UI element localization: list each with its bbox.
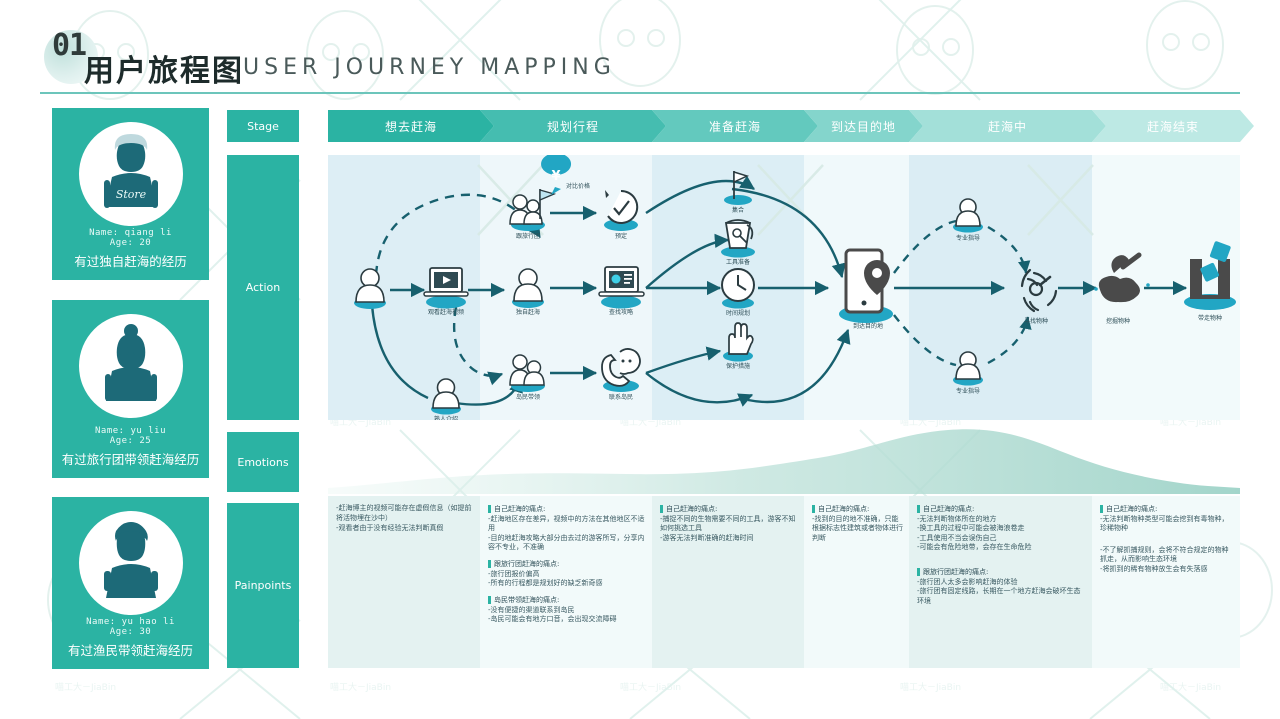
persona-desc: 有过渔民带领赶海经历 (52, 640, 209, 659)
painpoint-group: 自己赶海的痛点: -赶海地区存在差异，视频中的方法在其他地区不适用 -目的地赶海… (488, 504, 646, 553)
painpoint-group: 自己赶海的痛点: -找到的目的地不准确，只能根据标志性建筑或者物体进行判断 (812, 504, 903, 543)
person-icon (953, 352, 983, 386)
stage-chevron[interactable]: 到达目的地 (804, 110, 923, 142)
painpoint-line: -所有的行程都是规划好的缺乏新奇感 (488, 579, 646, 588)
painpoint-line: -游客无法判断准确的赶海时间 (660, 534, 798, 543)
action-node-label: 跟旅行团 (516, 231, 540, 240)
painpoint-heading-text: 自己赶海的痛点: (923, 504, 974, 514)
accent-bar-icon (1100, 505, 1103, 513)
group-flag-icon (510, 189, 554, 231)
persona-name: Name: yu hao li (52, 617, 209, 627)
action-node-label: 观看赶海视频 (428, 307, 464, 316)
action-flow-diagram: ¥ (328, 155, 1240, 420)
stage-label: 准备赶海 (709, 118, 761, 135)
accent-bar-icon (660, 505, 663, 513)
svg-text:喵工大－JiaBin: 喵工大－JiaBin (900, 681, 961, 693)
radar-search-icon (1022, 270, 1056, 311)
person-icon (354, 269, 386, 309)
row-label-painpoints[interactable]: Painpoints (227, 503, 299, 668)
persona-card[interactable]: Store Name: qiang li Age: 20 有过独自赶海的经历 (52, 108, 209, 280)
painpoint-heading: 自己赶海的痛点: (660, 504, 798, 514)
action-node-label: 专业指导 (956, 233, 980, 242)
page-title-en: USER JOURNEY MAPPING (243, 55, 616, 80)
person-icon (431, 379, 461, 415)
painpoint-group: 岛民带领赶海的痛点: -没有便捷的渠道联系到岛民 -岛民可能会有地方口音，会出现… (488, 595, 646, 625)
accent-bar-icon (917, 505, 920, 513)
emotion-curve (328, 422, 1240, 494)
action-node-label: 联系岛民 (609, 392, 633, 401)
svg-text:¥: ¥ (551, 169, 560, 184)
painpoint-group: 自己赶海的痛点: -捕捉不同的生物需要不同的工具，游客不知如何挑选工具 -游客无… (660, 504, 798, 543)
persona-text: Name: qiang li Age: 20 有过独自赶海的经历 (52, 228, 209, 270)
action-panel: ¥ (328, 155, 1240, 420)
persona-age: Age: 25 (52, 436, 209, 446)
accent-bar-icon (488, 505, 491, 513)
emotions-panel (328, 422, 1240, 494)
painpoint-line: -捕捉不同的生物需要不同的工具，游客不知如何挑选工具 (660, 515, 798, 534)
svg-text:喵工大－JiaBin: 喵工大－JiaBin (620, 681, 681, 693)
painpoint-line: -赶海地区存在差异，视频中的方法在其他地区不适用 (488, 515, 646, 534)
video-laptop-icon (424, 268, 468, 309)
shovel-dig-icon (1094, 255, 1150, 302)
persona-name: Name: qiang li (52, 228, 209, 238)
action-node-label: 岛民带领 (516, 392, 540, 401)
painpoint-heading: 自己赶海的痛点: (488, 504, 646, 514)
action-node-label: 集合 (732, 205, 744, 214)
painpoint-line: -观看者由于没有经验无法判断真假 (336, 524, 474, 534)
painpoint-heading-text: 岛民带领赶海的痛点: (494, 595, 559, 605)
row-label-text: Emotions (237, 456, 288, 469)
action-node-label: 带走物种 (1198, 313, 1222, 322)
action-node-label: 寻找物种 (1024, 316, 1048, 325)
person-icon (953, 199, 983, 233)
action-node-label: 对比价格 (566, 181, 590, 190)
painpoint-group: 跟旅行团赶海的痛点: -旅行团报价偏高 -所有的行程都是规划好的缺乏新奇感 (488, 559, 646, 589)
painpoint-line: -旅行团报价偏高 (488, 570, 646, 579)
painpoint-group: -赶海博主的视频可能存在虚假信息（如提前将活物埋在沙中） -观看者由于没有经验无… (336, 504, 474, 533)
persona-card[interactable]: Name: yu hao li Age: 30 有过渔民带领赶海经历 (52, 497, 209, 669)
painpoint-heading-text: 跟旅行团赶海的痛点: (494, 559, 559, 569)
action-node-label: 时间规划 (726, 308, 750, 317)
laptop-chart-icon (599, 267, 644, 309)
avatar (79, 511, 183, 615)
painpoint-column: 自己赶海的痛点: -找到的目的地不准确，只能根据标志性建筑或者物体进行判断 (804, 496, 909, 668)
painpoint-line: -不了解抓捕规则，会将不符合规定的物种抓走，从而影响生态环境 (1100, 546, 1234, 565)
painpoint-heading-text: 自己赶海的痛点: (666, 504, 717, 514)
painpoint-column: -赶海博主的视频可能存在虚假信息（如提前将活物埋在沙中） -观看者由于没有经验无… (328, 496, 480, 668)
persona-desc: 有过旅行团带领赶海经历 (52, 449, 209, 468)
accent-bar-icon (488, 596, 491, 604)
painpoint-line: -没有便捷的渠道联系到岛民 (488, 606, 646, 615)
painpoint-heading: 岛民带领赶海的痛点: (488, 595, 646, 605)
row-label-stage[interactable]: Stage (227, 110, 299, 142)
action-node-label: 挖掘物种 (1106, 316, 1130, 325)
bucket-tools-icon (721, 220, 755, 258)
painpoint-heading-text: 自己赶海的痛点: (494, 504, 545, 514)
persona-age: Age: 30 (52, 627, 209, 637)
painpoint-line: -将抓到的稀有物种放生会有失落感 (1100, 565, 1234, 574)
check-clock-icon (604, 190, 638, 231)
painpoint-column: 自己赶海的痛点: -捕捉不同的生物需要不同的工具，游客不知如何挑选工具 -游客无… (652, 496, 804, 668)
glove-icon (723, 323, 753, 362)
avatar (79, 314, 183, 418)
row-label-action[interactable]: Action (227, 155, 299, 420)
stage-label: 规划行程 (547, 118, 599, 135)
phone-call-icon (602, 349, 640, 392)
person-icon (512, 269, 544, 308)
painpoint-heading-text: 自己赶海的痛点: (1106, 504, 1157, 514)
page-title-cn: 用户旅程图 (84, 46, 244, 90)
painpoint-line: -旅行团有固定线路，长期在一个地方赶海会破坏生态环境 (917, 587, 1086, 606)
stage-chevron[interactable]: 赶海结束 (1092, 110, 1254, 142)
action-node-label: 独自赶海 (516, 307, 540, 316)
painpoint-line: -目的地赶海攻略大部分由去过的游客所写，分享内容不专业，不准确 (488, 534, 646, 553)
clock-icon (722, 269, 754, 309)
painpoint-line: -旅行团人太多会影响赶海的体验 (917, 578, 1086, 587)
action-node-label: 保护措施 (726, 361, 750, 370)
svg-text:喵工大－JiaBin: 喵工大－JiaBin (55, 681, 116, 693)
painpoints-panel: -赶海博主的视频可能存在虚假信息（如提前将活物埋在沙中） -观看者由于没有经验无… (328, 496, 1240, 668)
painpoint-column: 自己赶海的痛点: -无法判断物种类型可能会挖到有毒物种，珍稀物种 -不了解抓捕规… (1092, 496, 1240, 668)
painpoint-line: -换工具的过程中可能会被海浪卷走 (917, 524, 1086, 533)
painpoint-heading: 自己赶海的痛点: (917, 504, 1086, 514)
svg-text:喵工大－JiaBin: 喵工大－JiaBin (1160, 681, 1221, 693)
stage-chevron[interactable]: 赶海中 (909, 110, 1106, 142)
painpoint-heading: 自己赶海的痛点: (1100, 504, 1234, 514)
persona-desc: 有过独自赶海的经历 (52, 251, 209, 270)
painpoint-column: 自己赶海的痛点: -无法判断物体所在的地方 -换工具的过程中可能会被海浪卷走 -… (909, 496, 1092, 668)
painpoint-heading: 自己赶海的痛点: (812, 504, 903, 514)
svg-text:喵工大－JiaBin: 喵工大－JiaBin (330, 681, 391, 693)
persona-card[interactable]: Name: yu liu Age: 25 有过旅行团带领赶海经历 (52, 300, 209, 478)
row-label-text: Painpoints (235, 579, 292, 592)
painpoint-line: -找到的目的地不准确，只能根据标志性建筑或者物体进行判断 (812, 515, 903, 543)
stage-label: 赶海中 (988, 118, 1027, 135)
phone-map-pin-icon (839, 250, 893, 323)
accent-bar-icon (488, 560, 491, 568)
two-people-icon (510, 355, 545, 392)
painpoint-group: 跟旅行团赶海的痛点: -旅行团人太多会影响赶海的体验 -旅行团有固定线路，长期在… (917, 567, 1086, 606)
stage-label: 想去赶海 (385, 118, 437, 135)
persona-text: Name: yu hao li Age: 30 有过渔民带领赶海经历 (52, 617, 209, 659)
flag-icon (724, 171, 752, 205)
painpoint-heading-text: 跟旅行团赶海的痛点: (923, 567, 988, 577)
page-header: 01 用户旅程图 USER JOURNEY MAPPING (0, 0, 1280, 95)
painpoint-group: 自己赶海的痛点: -无法判断物体所在的地方 -换工具的过程中可能会被海浪卷走 -… (917, 504, 1086, 553)
bucket-catch-icon (1184, 241, 1236, 310)
painpoint-heading: 跟旅行团赶海的痛点: (917, 567, 1086, 577)
painpoint-line: -岛民可能会有地方口音，会出现交流障碍 (488, 615, 646, 624)
painpoint-line: -无法判断物种类型可能会挖到有毒物种，珍稀物种 (1100, 515, 1234, 534)
action-node-label: 熟人介绍 (434, 414, 458, 420)
stage-label: 赶海结束 (1147, 118, 1199, 135)
painpoint-group: 自己赶海的痛点: -无法判断物种类型可能会挖到有毒物种，珍稀物种 (1100, 504, 1234, 534)
stage-chevron-row: 想去赶海 规划行程 准备赶海 到达目的地 赶海中 赶海结束 (328, 110, 1240, 142)
stage-chevron[interactable]: 想去赶海 (328, 110, 494, 142)
stage-chevron[interactable]: 准备赶海 (652, 110, 818, 142)
action-node-label: 查找攻略 (609, 307, 633, 316)
stage-chevron[interactable]: 规划行程 (480, 110, 666, 142)
painpoint-heading-text: 自己赶海的痛点: (818, 504, 869, 514)
painpoint-line: -可能会有危险地带，会存在生命危险 (917, 543, 1086, 552)
action-node-label: 工具准备 (726, 257, 750, 266)
accent-bar-icon (917, 568, 920, 576)
action-node-label: 预定 (615, 231, 627, 240)
action-node-label: 专业指导 (956, 386, 980, 395)
persona-text: Name: yu liu Age: 25 有过旅行团带领赶海经历 (52, 426, 209, 468)
persona-name: Name: yu liu (52, 426, 209, 436)
header-divider (40, 92, 1240, 94)
painpoint-heading: 跟旅行团赶海的痛点: (488, 559, 646, 569)
avatar: Store (79, 122, 183, 226)
accent-bar-icon (812, 505, 815, 513)
painpoint-column: 自己赶海的痛点: -赶海地区存在差异，视频中的方法在其他地区不适用 -目的地赶海… (480, 496, 652, 668)
header-number: 01 (52, 28, 86, 63)
painpoint-line: -赶海博主的视频可能存在虚假信息（如提前将活物埋在沙中） (336, 504, 474, 524)
persona-age: Age: 20 (52, 238, 209, 248)
painpoint-line: -工具使用不当会误伤自己 (917, 534, 1086, 543)
row-label-text: Stage (247, 120, 279, 133)
row-label-text: Action (246, 281, 280, 294)
painpoint-group: -不了解抓捕规则，会将不符合规定的物种抓走，从而影响生态环境 -将抓到的稀有物种… (1100, 546, 1234, 574)
row-label-emotions[interactable]: Emotions (227, 432, 299, 492)
action-node-label: 到达目的地 (853, 321, 883, 330)
svg-text:Store: Store (115, 188, 146, 201)
stage-label: 到达目的地 (831, 118, 896, 135)
